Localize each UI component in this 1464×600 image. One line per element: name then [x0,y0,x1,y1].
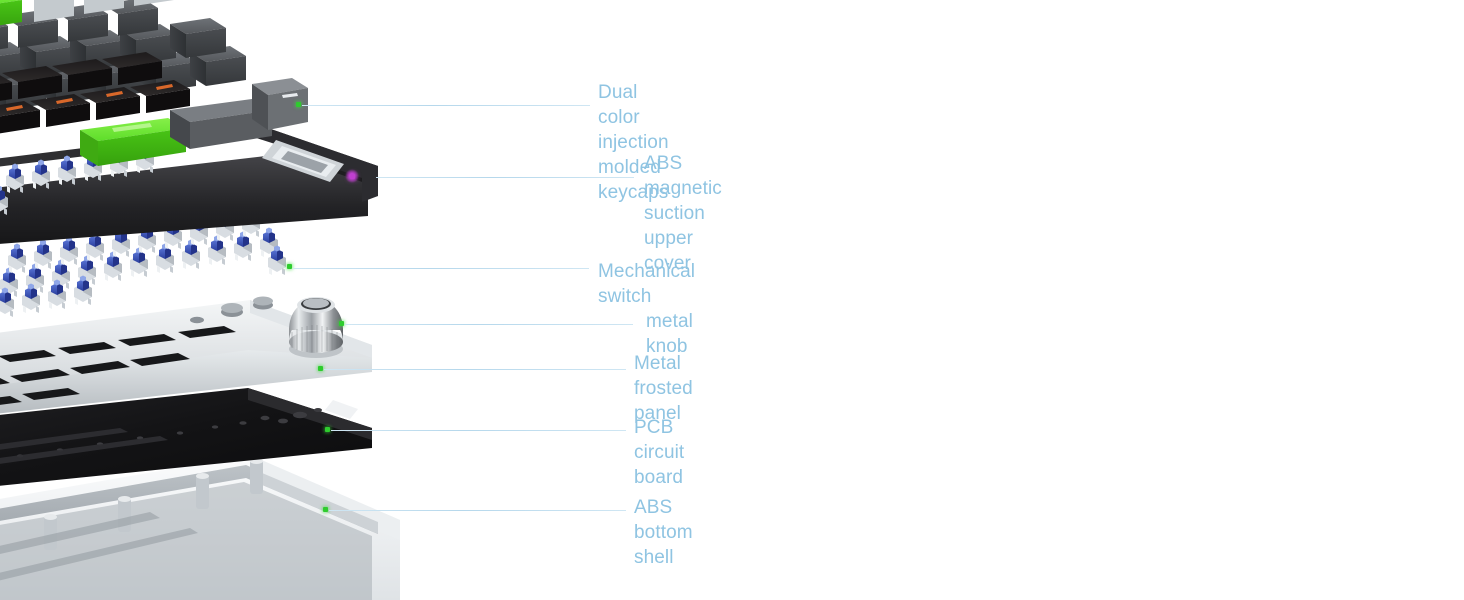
leader-line-metal-frosted-panel [324,369,626,370]
label-mechanical-switch: Mechanical switch [598,259,695,309]
exploded-view-diagram: Dual color injection molded keycaps ABS … [0,0,1464,600]
marker-dot-pcb-circuit-board [325,427,330,432]
marker-dot-metal-knob [339,321,344,326]
leader-line-metal-knob [345,324,633,325]
label-abs-upper-cover: ABS magnetic suction upper cover [644,151,722,276]
marker-dot-keycaps [296,102,301,107]
leader-line-mechanical-switch [293,268,589,269]
marker-dot-mechanical-switch [287,264,292,269]
leader-line-keycaps [302,105,590,106]
label-abs-bottom-shell: ABS bottom shell [634,495,693,570]
leader-line-pcb-circuit-board [331,430,626,431]
marker-dot-metal-frosted-panel [318,366,323,371]
leader-line-upper-cover [376,177,634,178]
marker-dot-upper-cover [350,174,355,179]
layer-metal-knob [289,297,343,358]
label-pcb-circuit-board: PCB circuit board [634,415,684,490]
marker-dot-abs-bottom-shell [323,507,328,512]
leader-line-abs-bottom-shell [329,510,626,511]
